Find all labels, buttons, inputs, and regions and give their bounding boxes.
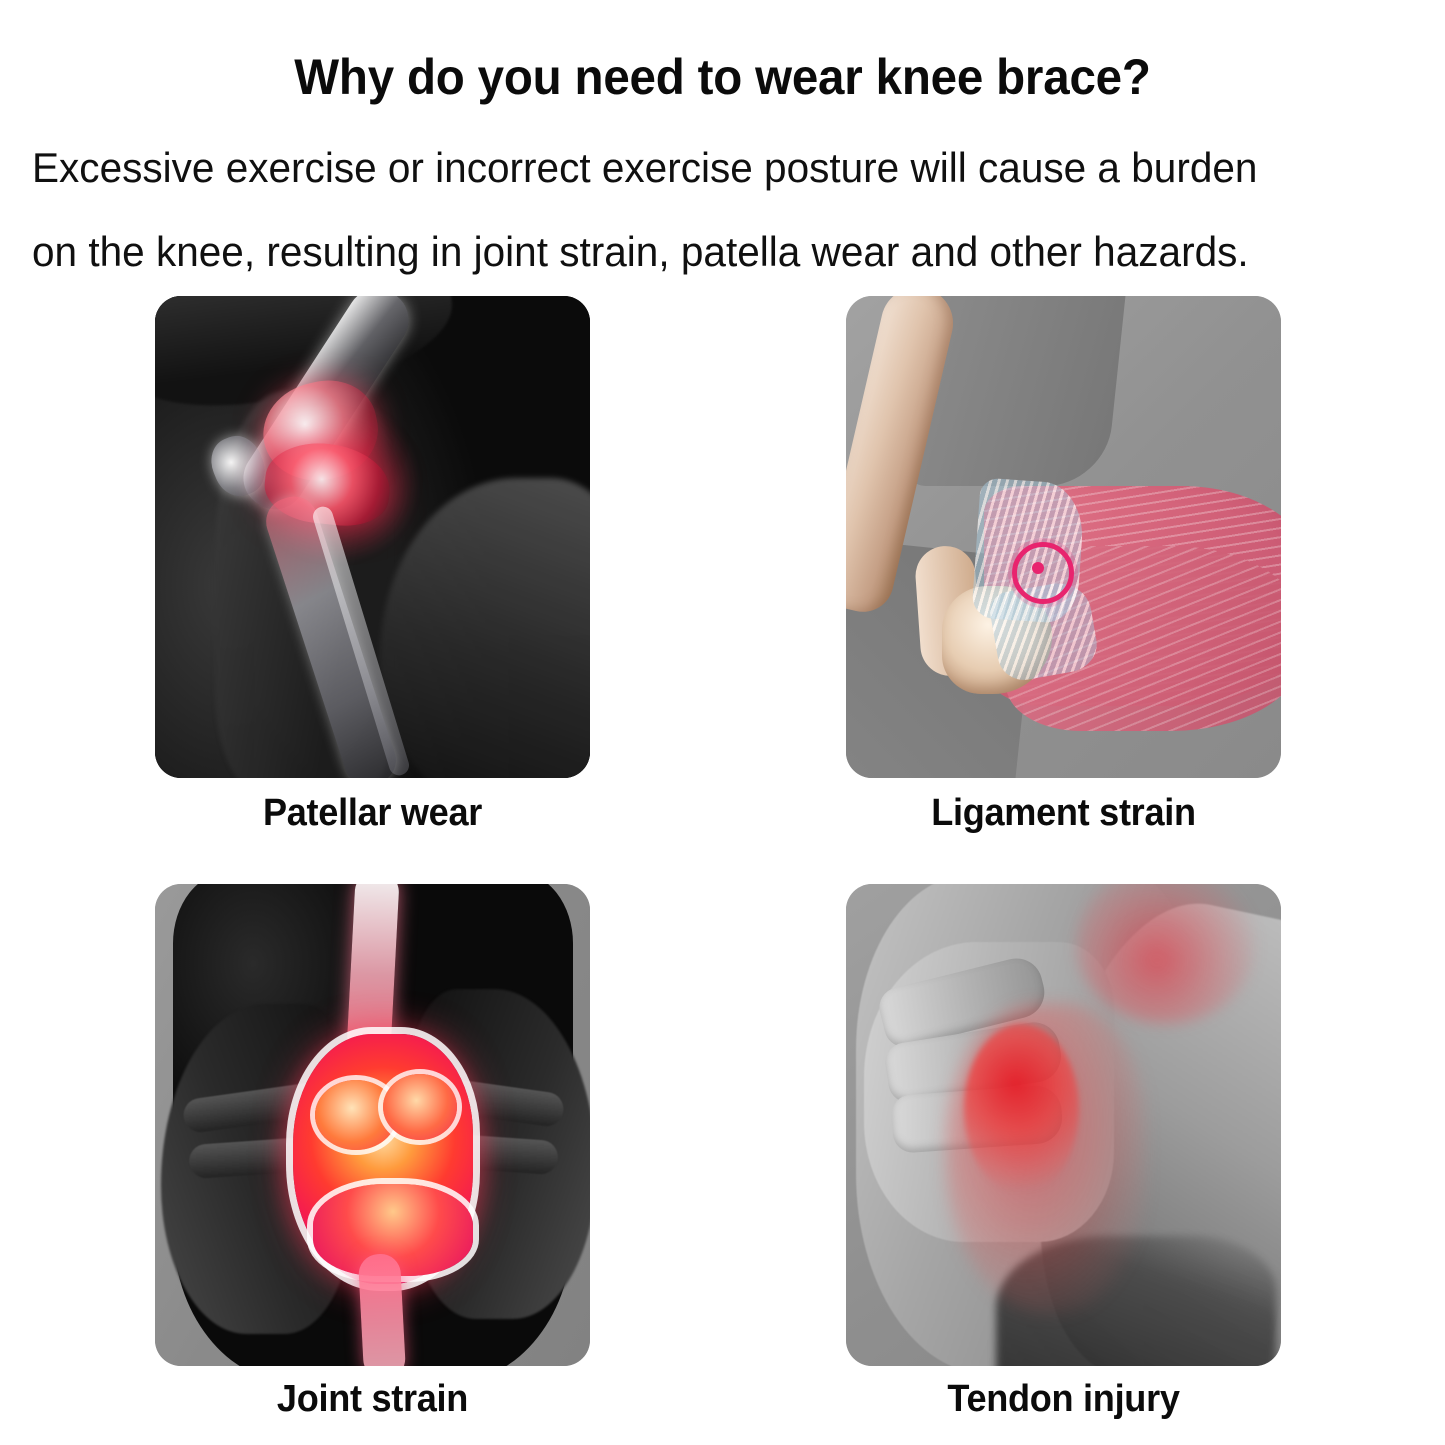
pain-glow-core	[964, 1024, 1079, 1194]
lateral-condyle	[383, 1074, 457, 1140]
condition-card-patellar-wear[interactable]: Patellar wear	[155, 296, 590, 778]
panel-image-joint-strain	[155, 884, 590, 1366]
page-title: Why do you need to wear knee brace?	[36, 50, 1409, 104]
caption-ligament-strain: Ligament strain	[857, 792, 1270, 835]
condition-card-tendon-injury[interactable]: Tendon injury	[846, 884, 1281, 1366]
infographic-page: Why do you need to wear knee brace? Exce…	[0, 0, 1445, 1445]
intro-paragraph-line-1: Excessive exercise or incorrect exercise…	[32, 126, 1373, 210]
caption-joint-strain: Joint strain	[166, 1378, 579, 1421]
intro-paragraph-line-2: on the knee, resulting in joint strain, …	[32, 210, 1373, 294]
panel-image-patellar-wear	[155, 296, 590, 778]
intro-paragraph: Excessive exercise or incorrect exercise…	[32, 126, 1373, 294]
panel-image-ligament-strain	[846, 296, 1281, 778]
pain-point-center-icon	[1032, 562, 1044, 574]
caption-patellar-wear: Patellar wear	[166, 792, 579, 835]
panel-image-tendon-injury	[846, 884, 1281, 1366]
condition-card-joint-strain[interactable]: Joint strain	[155, 884, 590, 1366]
tibia-bone	[358, 1253, 406, 1366]
condition-card-ligament-strain[interactable]: Ligament strain	[846, 296, 1281, 778]
caption-tendon-injury: Tendon injury	[857, 1378, 1270, 1421]
pain-point-icon	[1012, 542, 1074, 604]
